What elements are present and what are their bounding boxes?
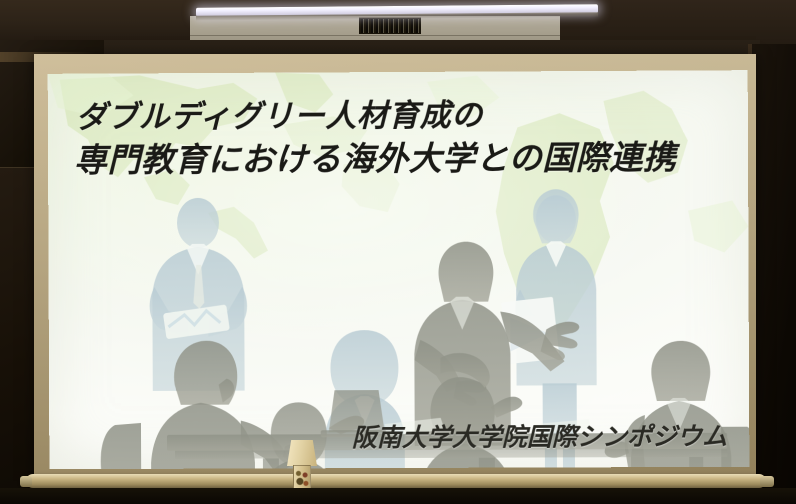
room-photo-scene: ダブルディグリー人材育成の 専門教育における海外大学との国際連携 阪南大学大学院… [0,0,796,504]
ceiling-air-vent [359,17,421,34]
projected-slide: ダブルディグリー人材育成の 専門教育における海外大学との国際連携 阪南大学大学院… [48,70,750,469]
wall-panel-right [752,44,796,504]
slide-footer-organizer: 阪南大学大学院国際シンポジウム [352,417,728,454]
lamp-shade [287,440,317,466]
screen-roller-cap-left [20,476,32,487]
floor-shadow [0,488,796,504]
slide-title: ダブルディグリー人材育成の 専門教育における海外大学との国際連携 [76,94,736,182]
slide-title-line-2: 専門教育における海外大学との国際連携 [74,137,736,183]
slide-title-line-1: ダブルディグリー人材育成の [76,94,736,138]
screen-roller-cap-right [760,476,774,487]
lamp-decoration [295,469,309,489]
screen-roller-bar[interactable] [26,474,766,488]
